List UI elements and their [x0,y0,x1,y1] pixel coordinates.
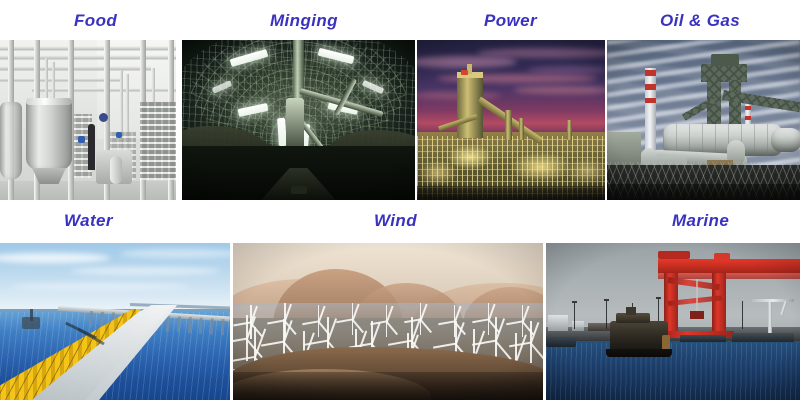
sea-water-pipeline-photo [0,243,230,400]
industry-application-gallery: Food Minging Power Oil & Gas [0,0,800,400]
tile-oil-gas[interactable] [607,40,800,200]
label-oil-gas: Oil & Gas [660,12,740,29]
label-power: Power [484,12,537,29]
mining-tunnel-photo [182,40,415,200]
power-plant-dusk-photo [417,40,605,200]
oil-gas-refinery-photo [607,40,800,200]
label-minging: Minging [270,12,338,29]
tile-water[interactable] [0,243,230,400]
tile-food[interactable] [0,40,176,200]
label-marine: Marine [672,212,729,229]
label-water: Water [64,212,113,229]
food-processing-plant-photo [0,40,176,200]
tile-minging[interactable] [182,40,415,200]
tile-marine[interactable] [546,243,800,400]
label-food: Food [74,12,117,29]
label-wind: Wind [374,212,417,229]
tile-wind[interactable] [233,243,543,400]
wind-farm-photo [233,243,543,400]
marine-shipyard-photo [546,243,800,400]
tile-power[interactable] [417,40,605,200]
